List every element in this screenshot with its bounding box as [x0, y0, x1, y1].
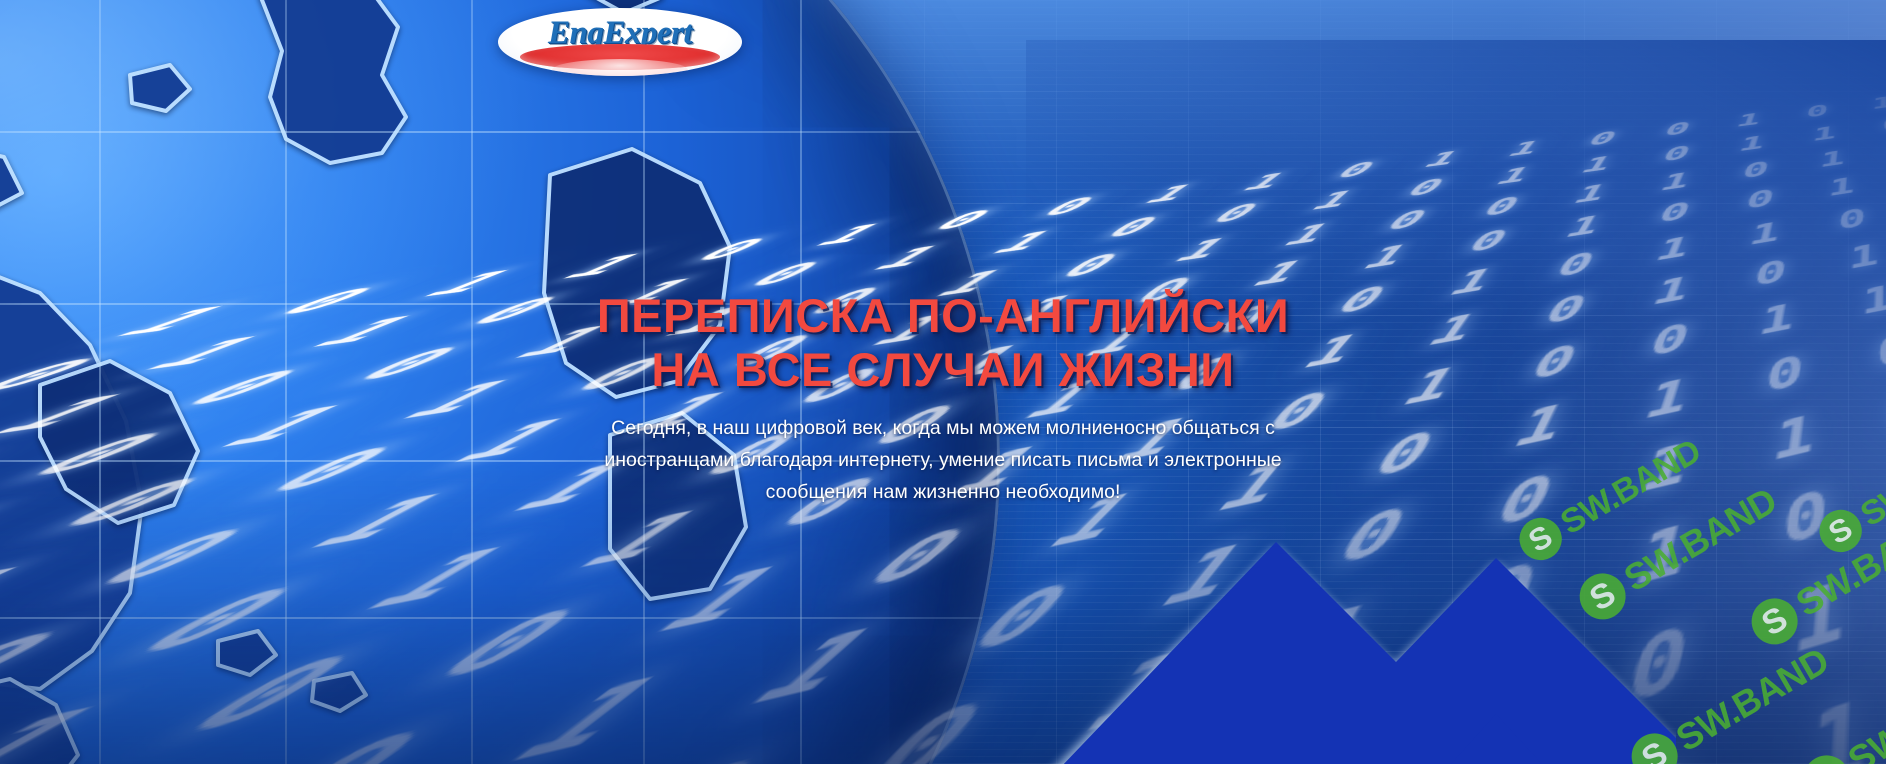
background-bottom-shade: [0, 464, 1886, 764]
lead-paragraph: Сегодня, в наш цифровой век, когда мы мо…: [573, 412, 1313, 509]
headline-line-2: НА ВСЕ СЛУЧАИ ЖИЗНИ: [0, 343, 1886, 397]
engexpert-logo[interactable]: EngExpert: [498, 8, 742, 76]
page-title: ПЕРЕПИСКА ПО-АНГЛИЙСКИ НА ВСЕ СЛУЧАИ ЖИЗ…: [0, 289, 1886, 396]
logo-swoosh-icon: [520, 44, 720, 70]
promo-banner: 1 0 1 1 0 1 0 0 1 1 0 1 1 0 0 1 0 1 1 0 …: [0, 0, 1886, 764]
headline-line-1: ПЕРЕПИСКА ПО-АНГЛИЙСКИ: [0, 289, 1886, 343]
